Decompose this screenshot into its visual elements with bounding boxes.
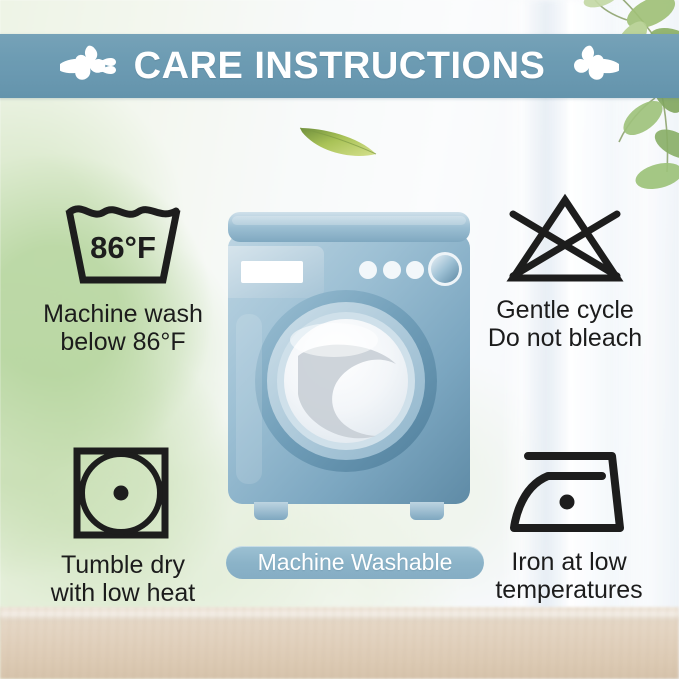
wash-tub-icon: 86°F <box>59 196 187 292</box>
table-wood-grain <box>0 607 679 679</box>
iron-low-heat-icon <box>504 444 634 540</box>
care-item-tumble-dry-low: Tumble dry with low heat <box>16 443 230 608</box>
care-instructions-graphic: CARE INSTRUCTIONS <box>0 0 679 679</box>
care-item-caption: Tumble dry with low heat <box>51 551 196 608</box>
care-item-caption: Iron at low temperatures <box>495 548 642 605</box>
fleur-de-lis-icon <box>563 43 619 89</box>
care-item-machine-wash: 86°F Machine wash below 86°F <box>14 196 232 357</box>
care-item-caption: Machine wash below 86°F <box>43 300 203 357</box>
wash-tub-temperature: 86°F <box>90 230 156 265</box>
care-item-caption: Gentle cycle Do not bleach <box>488 296 642 353</box>
care-item-gentle-cycle-no-bleach: Gentle cycle Do not bleach <box>458 192 672 353</box>
triangle-crossed-out-icon <box>501 192 629 288</box>
page-title: CARE INSTRUCTIONS <box>134 47 546 85</box>
tumble-dry-low-icon <box>68 443 178 543</box>
washing-machine-illustration <box>224 206 474 541</box>
leafy-branch-icon <box>555 0 679 196</box>
floating-leaf-icon <box>296 120 380 162</box>
machine-washable-badge-label: Machine Washable <box>258 551 453 574</box>
care-item-iron-low: Iron at low temperatures <box>462 444 676 605</box>
header-banner: CARE INSTRUCTIONS <box>0 34 679 98</box>
machine-washable-badge: Machine Washable <box>226 546 484 579</box>
fleur-de-lis-icon <box>60 43 116 89</box>
